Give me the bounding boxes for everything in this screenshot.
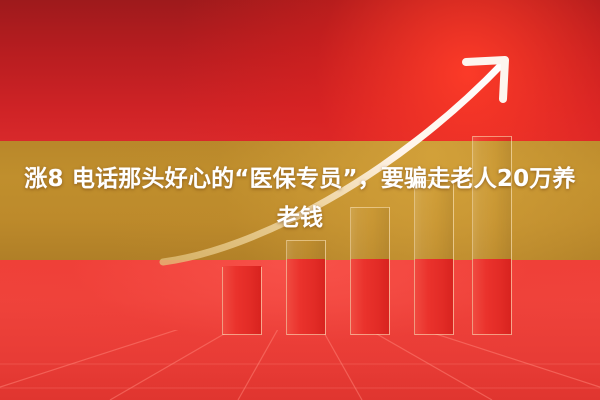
bar-fill xyxy=(473,259,511,334)
bar-1 xyxy=(222,267,262,335)
bar-fill xyxy=(223,266,261,334)
bar-fill xyxy=(351,259,389,334)
headline-text: 涨8 电话那头好心的“医保专员”，要骗走老人20万养老钱 xyxy=(0,160,600,238)
banner-image: 涨8 电话那头好心的“医保专员”，要骗走老人20万养老钱 xyxy=(0,0,600,400)
bar-fill xyxy=(415,259,453,334)
bar-fill xyxy=(287,259,325,334)
bar-2 xyxy=(286,240,326,335)
